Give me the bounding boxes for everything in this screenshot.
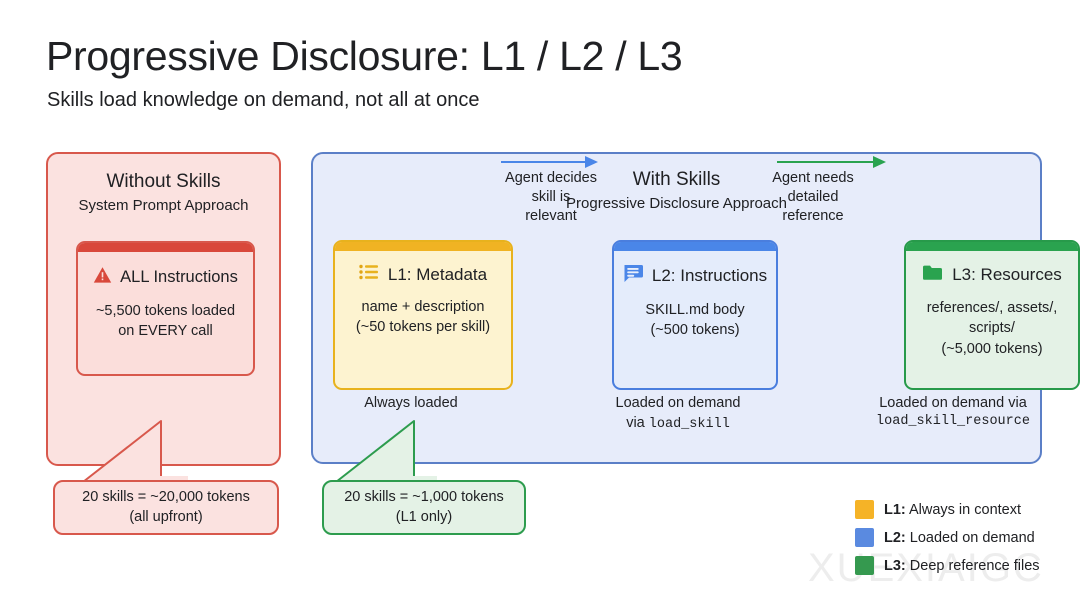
- without-skills-panel: Without Skills System Prompt Approach AL…: [46, 152, 281, 466]
- warning-triangle-icon: [93, 266, 112, 289]
- arrow-head: [873, 156, 886, 168]
- legend-key-l3: L3:: [884, 558, 906, 574]
- without-skills-callout-line1: 20 skills = ~20,000 tokens: [82, 488, 250, 508]
- legend-label-l2: L2: Loaded on demand: [884, 530, 1035, 546]
- arrow-head: [585, 156, 598, 168]
- l3-card-title: L3: Resources: [952, 265, 1062, 285]
- legend-label-l1: L1: Always in context: [884, 502, 1021, 518]
- card-accent-bar: [335, 242, 511, 251]
- l3-body-line2: scripts/: [914, 318, 1070, 338]
- list-icon: [359, 264, 379, 285]
- legend-text-l2: Loaded on demand: [906, 530, 1035, 546]
- arrow-l2-to-l3-label: Agent needs detailed reference: [765, 169, 861, 226]
- l2-instructions-card: L2: Instructions SKILL.md body (~500 tok…: [612, 240, 778, 390]
- l3-resources-card: L3: Resources references/, assets/, scri…: [904, 240, 1080, 390]
- card-accent-bar: [78, 243, 253, 252]
- l1-card-body: name + description (~50 tokens per skill…: [335, 297, 511, 338]
- l3-body-line1: references/, assets/,: [914, 298, 1070, 318]
- legend-text-l3: Deep reference files: [906, 558, 1040, 574]
- without-skills-header: Without Skills System Prompt Approach: [48, 170, 279, 214]
- page-title: Progressive Disclosure: L1 / L2 / L3: [46, 33, 682, 80]
- l3-caption: Loaded on demand via load_skill_resource: [858, 393, 1048, 432]
- l2-body-line2: (~500 tokens): [622, 320, 768, 340]
- l2-caption-function: load_skill: [649, 417, 730, 432]
- l3-caption-function: load_skill_resource: [858, 413, 1048, 432]
- l1-caption: Always loaded: [311, 393, 511, 413]
- all-instructions-body: ~5,500 tokens loaded on EVERY call: [78, 302, 253, 341]
- legend-item-l3: L3: Deep reference files: [855, 556, 1040, 575]
- l3-card-header: L3: Resources: [906, 264, 1078, 286]
- l2-card-title: L2: Instructions: [652, 266, 767, 286]
- all-instructions-header: ALL Instructions: [78, 266, 253, 289]
- all-instructions-body-line2: on EVERY call: [78, 322, 253, 342]
- folder-icon: [922, 264, 943, 286]
- with-skills-subtitle: Progressive Disclosure Approach: [313, 195, 1040, 212]
- slide-canvas: Progressive Disclosure: L1 / L2 / L3 Ski…: [0, 0, 1080, 603]
- l3-caption-line1: Loaded on demand via: [858, 393, 1048, 413]
- l2-caption-prefix: via: [626, 415, 649, 431]
- l1-body-line2: (~50 tokens per skill): [343, 317, 503, 337]
- arrow-l1-to-l2-label: Agent decides skill is relevant: [505, 169, 597, 226]
- l2-card-body: SKILL.md body (~500 tokens): [614, 300, 776, 341]
- all-instructions-card: ALL Instructions ~5,500 tokens loaded on…: [76, 241, 255, 376]
- without-skills-callout-line2: (all upfront): [82, 508, 250, 528]
- without-skills-title: Without Skills: [48, 170, 279, 194]
- legend-text-l1: Always in context: [906, 502, 1021, 518]
- l1-card-title: L1: Metadata: [388, 265, 487, 285]
- without-skills-subtitle: System Prompt Approach: [48, 197, 279, 214]
- legend-key-l1: L1:: [884, 502, 906, 518]
- card-accent-bar: [614, 242, 776, 251]
- page-subtitle: Skills load knowledge on demand, not all…: [47, 89, 480, 112]
- l2-caption-line1: Loaded on demand: [578, 393, 778, 413]
- l3-card-body: references/, assets/, scripts/ (~5,000 t…: [906, 298, 1078, 359]
- l1-metadata-card: L1: Metadata name + description (~50 tok…: [333, 240, 513, 390]
- comment-icon: [623, 264, 643, 288]
- l2-card-header: L2: Instructions: [614, 264, 776, 288]
- l2-body-line1: SKILL.md body: [622, 300, 768, 320]
- without-skills-callout-box: 20 skills = ~20,000 tokens (all upfront): [53, 480, 279, 535]
- legend-swatch-l2: [855, 528, 874, 547]
- l1-caption-line1: Always loaded: [311, 393, 511, 413]
- l1-card-header: L1: Metadata: [335, 264, 511, 285]
- legend: L1: Always in context L2: Loaded on dema…: [855, 500, 1040, 584]
- with-skills-header: With Skills Progressive Disclosure Appro…: [313, 168, 1040, 212]
- legend-item-l2: L2: Loaded on demand: [855, 528, 1040, 547]
- with-skills-callout-box: 20 skills = ~1,000 tokens (L1 only): [322, 480, 526, 535]
- all-instructions-body-line1: ~5,500 tokens loaded: [78, 302, 253, 322]
- legend-swatch-l3: [855, 556, 874, 575]
- l1-body-line1: name + description: [343, 297, 503, 317]
- with-skills-title: With Skills: [313, 168, 1040, 192]
- l2-caption: Loaded on demand via load_skill: [578, 393, 778, 435]
- legend-label-l3: L3: Deep reference files: [884, 558, 1040, 574]
- with-skills-callout-line2: (L1 only): [344, 508, 504, 528]
- arrow-shaft: [501, 161, 587, 163]
- legend-swatch-l1: [855, 500, 874, 519]
- card-accent-bar: [906, 242, 1078, 251]
- legend-item-l1: L1: Always in context: [855, 500, 1040, 519]
- with-skills-callout-line1: 20 skills = ~1,000 tokens: [344, 488, 504, 508]
- l3-body-line3: (~5,000 tokens): [914, 339, 1070, 359]
- l2-caption-line2: via load_skill: [578, 413, 778, 435]
- all-instructions-label: ALL Instructions: [120, 268, 238, 287]
- arrow-shaft: [777, 161, 875, 163]
- legend-key-l2: L2:: [884, 530, 906, 546]
